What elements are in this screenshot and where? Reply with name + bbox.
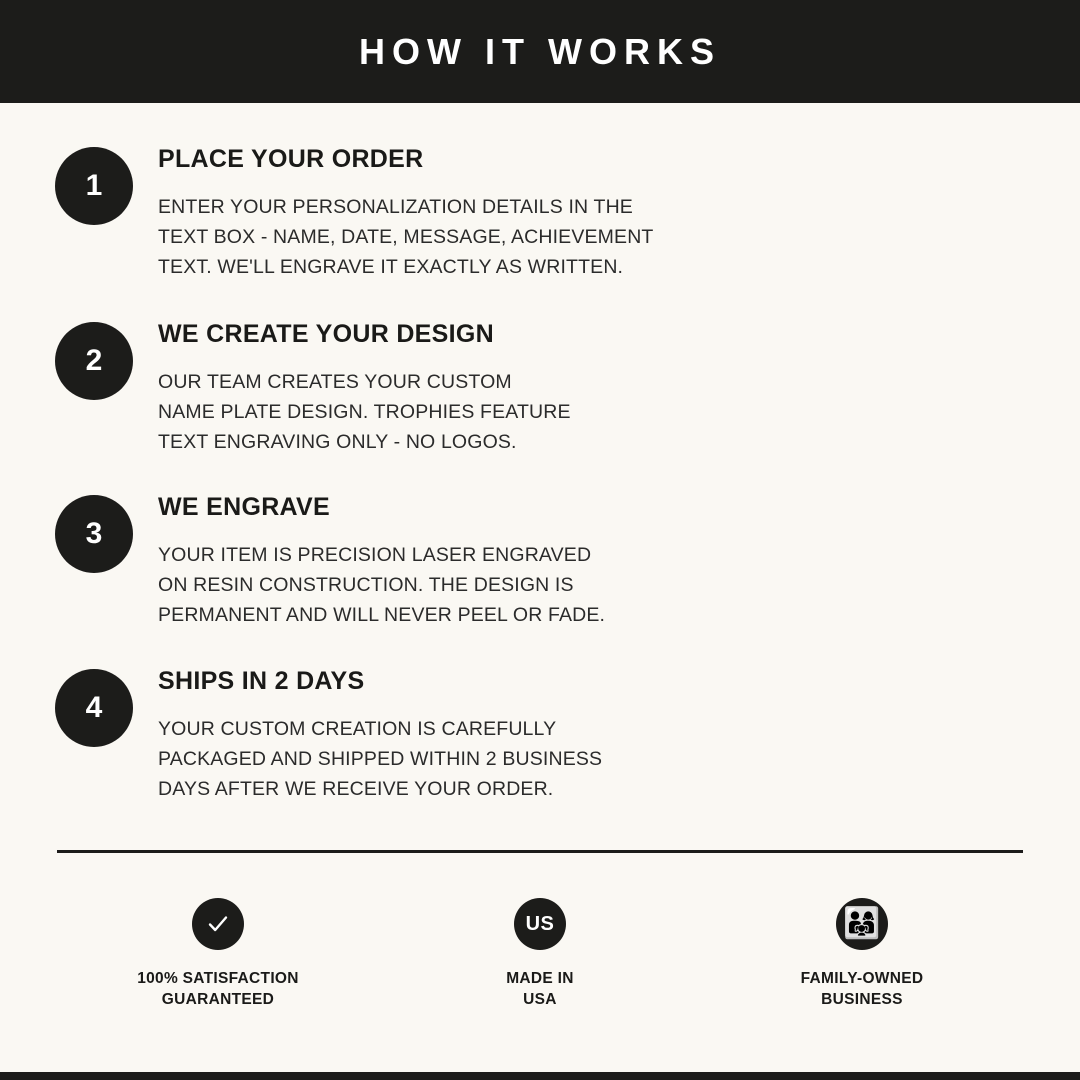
trust-badge-satisfaction: 100% SATISFACTION GUARANTEED — [88, 898, 348, 1010]
step-description: ENTER YOUR PERSONALIZATION DETAILS IN TH… — [158, 192, 1018, 282]
step-item-4: 4 SHIPS IN 2 DAYS YOUR CUSTOM CREATION I… — [55, 669, 1055, 829]
badge-label: 100% SATISFACTION GUARANTEED — [137, 968, 299, 1010]
step-title: WE CREATE YOUR DESIGN — [158, 322, 1018, 347]
step-content-4: SHIPS IN 2 DAYS YOUR CUSTOM CREATION IS … — [158, 669, 1018, 804]
step-item-2: 2 WE CREATE YOUR DESIGN OUR TEAM CREATES… — [55, 322, 1055, 482]
step-title: PLACE YOUR ORDER — [158, 147, 1018, 172]
badge-icon-circle: US — [514, 898, 566, 950]
trust-badges-row: 100% SATISFACTION GUARANTEED US MADE IN … — [57, 898, 1023, 1010]
step-number-badge-1: 1 — [55, 147, 133, 225]
badge-label: FAMILY-OWNED BUSINESS — [801, 968, 924, 1010]
step-item-1: 1 PLACE YOUR ORDER ENTER YOUR PERSONALIZ… — [55, 147, 1055, 307]
header-bar: HOW IT WORKS — [0, 0, 1080, 103]
step-item-3: 3 WE ENGRAVE YOUR ITEM IS PRECISION LASE… — [55, 495, 1055, 655]
us-text-icon: US — [526, 914, 555, 934]
family-emoji-icon: 👨‍👩‍👧 — [843, 909, 880, 939]
step-number-label: 2 — [86, 346, 103, 376]
step-content-1: PLACE YOUR ORDER ENTER YOUR PERSONALIZAT… — [158, 147, 1018, 282]
footer-bar — [0, 1072, 1080, 1080]
step-number-label: 1 — [86, 171, 103, 201]
step-number-label: 4 — [86, 693, 103, 723]
step-description: YOUR ITEM IS PRECISION LASER ENGRAVED ON… — [158, 540, 1018, 630]
step-number-badge-2: 2 — [55, 322, 133, 400]
section-divider — [57, 850, 1023, 853]
step-description: OUR TEAM CREATES YOUR CUSTOM NAME PLATE … — [158, 367, 1018, 457]
step-content-2: WE CREATE YOUR DESIGN OUR TEAM CREATES Y… — [158, 322, 1018, 457]
trust-badge-made-in-usa: US MADE IN USA — [410, 898, 670, 1010]
page-title: HOW IT WORKS — [359, 34, 721, 70]
step-number-label: 3 — [86, 519, 103, 549]
step-title: WE ENGRAVE — [158, 495, 1018, 520]
step-number-badge-4: 4 — [55, 669, 133, 747]
badge-label: MADE IN USA — [506, 968, 574, 1010]
step-content-3: WE ENGRAVE YOUR ITEM IS PRECISION LASER … — [158, 495, 1018, 630]
trust-badge-family-owned: 👨‍👩‍👧 FAMILY-OWNED BUSINESS — [732, 898, 992, 1010]
step-number-badge-3: 3 — [55, 495, 133, 573]
badge-icon-circle: 👨‍👩‍👧 — [836, 898, 888, 950]
checkmark-icon — [205, 911, 231, 937]
badge-icon-circle — [192, 898, 244, 950]
step-description: YOUR CUSTOM CREATION IS CAREFULLY PACKAG… — [158, 714, 1018, 804]
step-title: SHIPS IN 2 DAYS — [158, 669, 1018, 694]
